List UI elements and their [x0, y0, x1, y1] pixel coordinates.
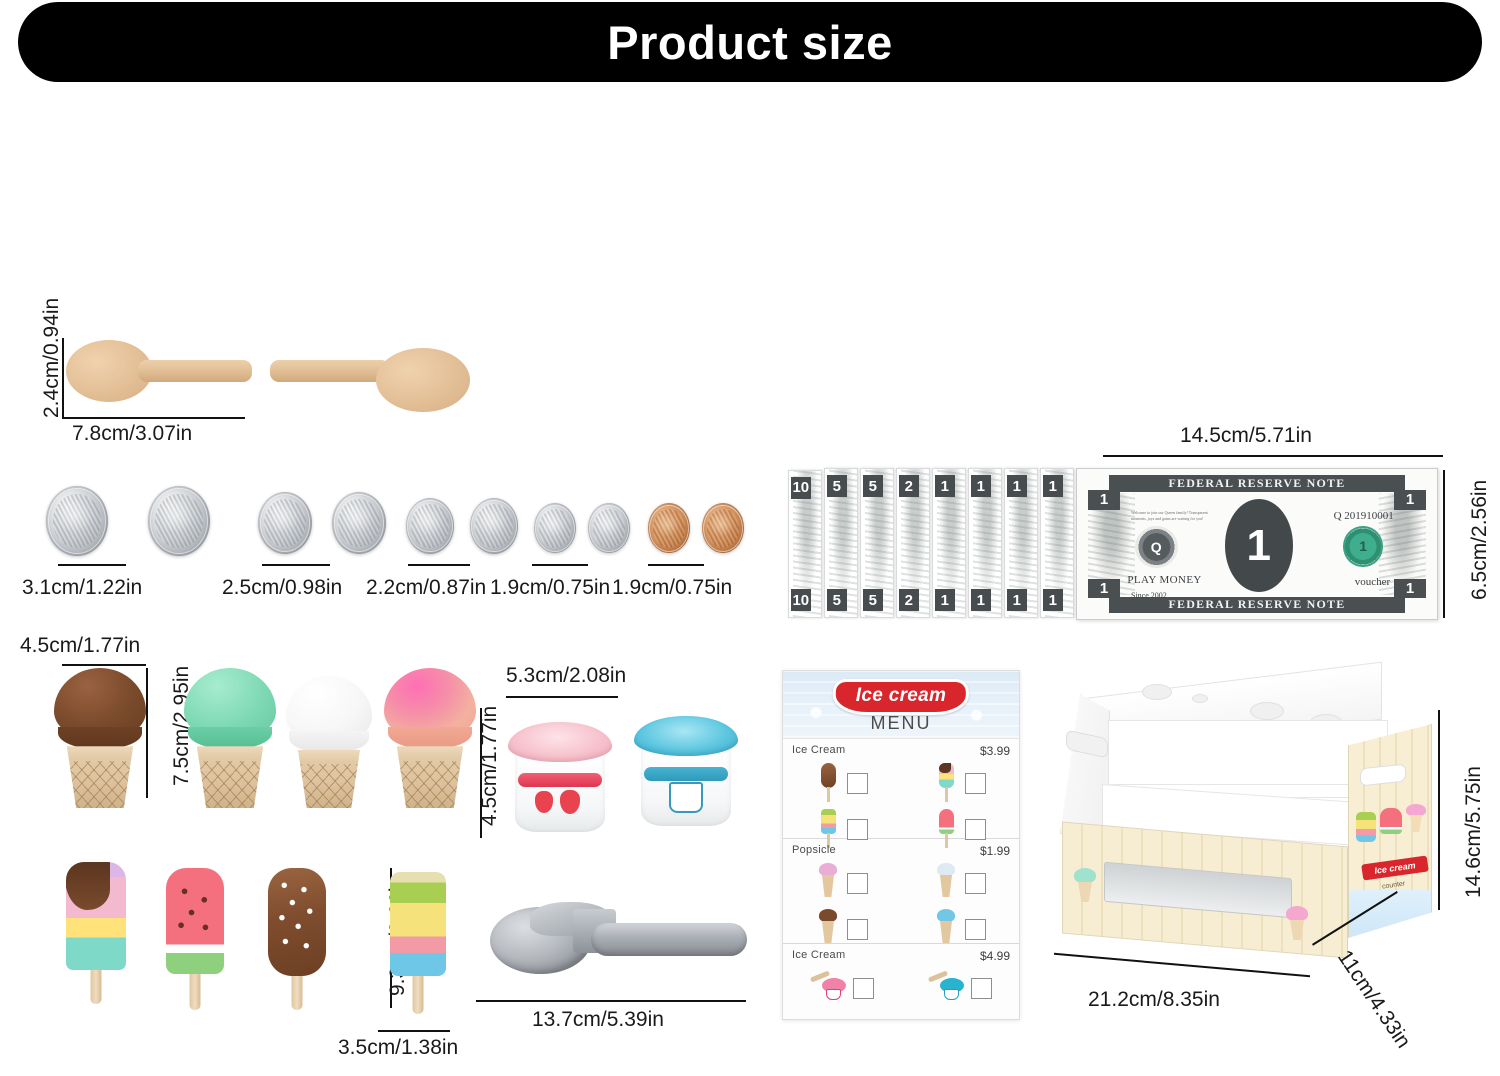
menu-row-price: $4.99 [980, 949, 1010, 963]
counter-height-label: 14.6cm/5.75in [1462, 766, 1486, 898]
popsicle-stick [413, 972, 424, 1014]
cone-waffle [397, 746, 463, 808]
bill-seal-letter: Q [1135, 526, 1178, 568]
coin-label-2: 2.5cm/0.98in [222, 576, 342, 600]
coin-silver-tiny [588, 503, 630, 553]
menu-checkbox[interactable] [853, 978, 874, 999]
spoon-bowl [376, 348, 470, 412]
menu-checkbox[interactable] [847, 773, 868, 794]
menu-header: Ice cream MENU [783, 671, 1019, 739]
bill-stack-item: 1 1 [1004, 468, 1038, 618]
bill-since-text: Since 2002 [1131, 591, 1167, 600]
bill-center-value: 1 [1225, 499, 1293, 592]
coin-rule-3 [408, 564, 470, 566]
ice-cream-scoop [490, 902, 742, 984]
cone-decal-icon [1284, 906, 1310, 942]
counter-cone-hole [1250, 702, 1284, 720]
coin-rule-2 [262, 564, 330, 566]
menu-checkbox[interactable] [965, 873, 986, 894]
menu-checkbox[interactable] [847, 873, 868, 894]
coin-label-1: 3.1cm/1.22in [22, 576, 142, 600]
bill-stack-item: 1 1 [932, 468, 966, 618]
bill-denomination: 1 [1043, 475, 1063, 497]
menu-checkbox[interactable] [965, 773, 986, 794]
cone-collar [188, 727, 273, 749]
cone-collar [388, 727, 473, 749]
scooper-length-label: 13.7cm/5.39in [532, 1008, 664, 1032]
bill-corner-value: 1 [1394, 579, 1426, 599]
bill-denomination: 10 [791, 477, 811, 499]
cone-waffle [298, 750, 360, 808]
bill-denomination: 1 [1007, 589, 1027, 611]
menu-item[interactable] [783, 760, 901, 806]
money-width-rule [1103, 455, 1443, 457]
bill-serial-number: Q 201910001 [1334, 510, 1394, 522]
menu-row-price: $3.99 [980, 744, 1010, 758]
coin-silver-medium [332, 492, 386, 554]
menu-row: Ice Cream $4.99 [783, 944, 1019, 1016]
popsicle-bar [66, 862, 126, 970]
counter-height-rule [1438, 710, 1440, 910]
cup-blueberry [634, 716, 738, 826]
cone-collar [289, 731, 368, 752]
coin-silver-tiny [534, 503, 576, 553]
cone-mint [184, 668, 276, 808]
coin-copper-penny [702, 503, 744, 553]
bill-microtext: Welcome to join our Queen family! Transp… [1131, 510, 1211, 523]
menu-checkbox[interactable] [847, 919, 868, 940]
bill-stack-item: 1 1 [1040, 468, 1074, 618]
menu-item[interactable] [901, 860, 1019, 906]
bill-voucher-text: voucher [1355, 576, 1390, 588]
cup-graphic-icon [669, 782, 702, 813]
blue-cup-scoop-icon [928, 968, 964, 1008]
cone-decal-icon [1072, 868, 1098, 904]
page-title: Product size [607, 15, 892, 70]
cup-band [644, 767, 727, 781]
coin-label-5: 1.9cm/0.75in [612, 576, 732, 600]
bill-front: FEDERAL RESERVE NOTE FEDERAL RESERVE NOT… [1076, 468, 1438, 620]
popsicle-watermelon [166, 868, 224, 1008]
coin-copper-penny [648, 503, 690, 553]
menu-board[interactable]: Ice cream MENU Ice Cream $3.99 [782, 670, 1020, 1020]
bill-denomination: 1 [935, 589, 955, 611]
counter-cone-hole [1192, 694, 1208, 703]
cup-width-rule [506, 696, 618, 698]
bill-corner-value: 1 [1088, 490, 1120, 510]
coin-label-3: 2.2cm/0.87in [366, 576, 486, 600]
menu-title: Ice cream [833, 679, 969, 715]
menu-row-label: Ice Cream [792, 744, 845, 756]
cup-band [518, 773, 601, 787]
bill-stack-item: 5 5 [824, 468, 858, 618]
spoon-height-rule [62, 338, 64, 418]
cup-height-label: 4.5cm/1.77in [478, 706, 502, 826]
popsicle-stick [190, 968, 201, 1010]
cup-strawberry [508, 722, 612, 832]
bill-denomination: 2 [899, 475, 919, 497]
bill-denomination: 1 [935, 475, 955, 497]
bill-stack-item: 2 2 [896, 468, 930, 618]
menu-item[interactable] [783, 965, 901, 1011]
cup-lid [508, 722, 612, 762]
cone-strawberry [384, 668, 476, 808]
cup-width-label: 5.3cm/2.08in [506, 664, 626, 688]
pink-cone-icon [816, 863, 840, 903]
counter-upper-shelf [1108, 720, 1388, 790]
money-width-label: 14.5cm/5.71in [1180, 424, 1312, 448]
spoon-right [270, 348, 470, 410]
menu-row-label: Popsicle [792, 844, 836, 856]
popsicle-rainbow-stripe [390, 872, 446, 1012]
rainbow-bar-decal-icon [1356, 812, 1376, 842]
cup-lid [634, 716, 738, 756]
cone-collar [58, 727, 143, 749]
bill-denomination: 5 [863, 589, 883, 611]
header-banner: Product size [18, 2, 1482, 82]
spoon-width-label: 7.8cm/3.07in [72, 422, 192, 446]
money-height-label: 6.5cm/2.56in [1468, 480, 1492, 600]
coin-rule-4 [532, 564, 588, 566]
bill-denomination: 5 [863, 475, 883, 497]
pink-cup-scoop-icon [810, 968, 846, 1008]
choco-drip-rainbow-bar-icon [934, 763, 958, 803]
bill-stack-item: 1 1 [968, 468, 1002, 618]
cup-body [515, 751, 604, 832]
cone-height-rule [146, 668, 148, 798]
scoop-handle [591, 923, 747, 956]
coin-label-4: 1.9cm/0.75in [490, 576, 610, 600]
coin-silver-small [406, 498, 454, 554]
spoon-height-label: 2.4cm/0.94in [40, 298, 64, 418]
bill-denomination: 2 [899, 589, 919, 611]
spoon-handle [270, 360, 390, 382]
menu-row: Ice Cream $3.99 [783, 739, 1019, 839]
watermelon-seeds [166, 868, 224, 974]
cone-width-rule [62, 664, 146, 666]
popsicle-stick [292, 970, 303, 1010]
counter-cone-hole [1142, 684, 1172, 700]
coin-silver-medium [258, 492, 312, 554]
cone-chocolate [54, 668, 146, 808]
chocolate-cone-icon [816, 909, 840, 949]
popsicle-width-rule [378, 1030, 450, 1032]
coin-silver-large [46, 486, 108, 556]
sprinkles [268, 868, 326, 976]
coin-rule-1 [58, 564, 126, 566]
coin-rule-5 [648, 564, 704, 566]
menu-checkbox[interactable] [847, 819, 868, 840]
chocolate-drip [66, 862, 110, 910]
bill-top-band: FEDERAL RESERVE NOTE [1109, 475, 1404, 492]
counter-width-label: 21.2cm/8.35in [1088, 988, 1220, 1012]
spoon-left [66, 340, 252, 402]
popsicle-choco-drip-rainbow [66, 862, 126, 1002]
blue-cone-icon [934, 909, 958, 949]
watermelon-decal-icon [1380, 808, 1402, 834]
bill-denomination: 10 [791, 589, 811, 611]
cone-waffle [67, 746, 133, 808]
popsicle-bar [390, 872, 446, 976]
cone-width-label: 4.5cm/1.77in [20, 634, 140, 658]
bill-denomination: 1 [971, 475, 991, 497]
bill-corner-value: 1 [1394, 490, 1426, 510]
bill-green-seal: 1 [1343, 526, 1383, 567]
cone-decal-icon [1406, 804, 1426, 832]
coin-silver-small [470, 498, 518, 554]
money-height-rule [1443, 470, 1445, 618]
menu-subtitle: MENU [871, 713, 932, 734]
bill-denomination: 1 [971, 589, 991, 611]
bill-stack-item: 5 5 [860, 468, 894, 618]
bill-stack-item: 10 10 [788, 470, 822, 618]
menu-checkbox[interactable] [971, 978, 992, 999]
bill-denomination: 5 [827, 589, 847, 611]
popsicle-width-label: 3.5cm/1.38in [338, 1036, 458, 1060]
chocolate-sprinkle-bar-icon [816, 763, 840, 803]
menu-item[interactable] [783, 860, 901, 906]
bill-denomination: 5 [827, 475, 847, 497]
cone-waffle [197, 746, 263, 808]
counter-stand: Ice cream counter [1052, 672, 1452, 992]
coin-silver-large [148, 486, 210, 556]
bill-corner-value: 1 [1088, 579, 1120, 599]
scooper-length-rule [476, 1000, 746, 1002]
spoon-width-rule [62, 417, 245, 419]
bill-denomination: 1 [1007, 475, 1027, 497]
popsicle-bar [166, 868, 224, 974]
popsicle-chocolate-sprinkle [268, 868, 326, 1008]
menu-checkbox[interactable] [965, 819, 986, 840]
menu-row-label: Ice Cream [792, 949, 845, 961]
counter-width-rule [1054, 953, 1310, 977]
menu-checkbox[interactable] [965, 919, 986, 940]
menu-item[interactable] [901, 965, 1019, 1011]
menu-row: Popsicle $1.99 [783, 839, 1019, 944]
menu-row-price: $1.99 [980, 844, 1010, 858]
cone-vanilla [286, 676, 372, 808]
bill-play-money-text: PLAY MONEY [1127, 574, 1201, 586]
white-cone-icon [934, 863, 958, 903]
spoon-handle [138, 360, 252, 382]
menu-item[interactable] [901, 760, 1019, 806]
bill-denomination: 1 [1043, 589, 1063, 611]
popsicle-bar [268, 868, 326, 976]
